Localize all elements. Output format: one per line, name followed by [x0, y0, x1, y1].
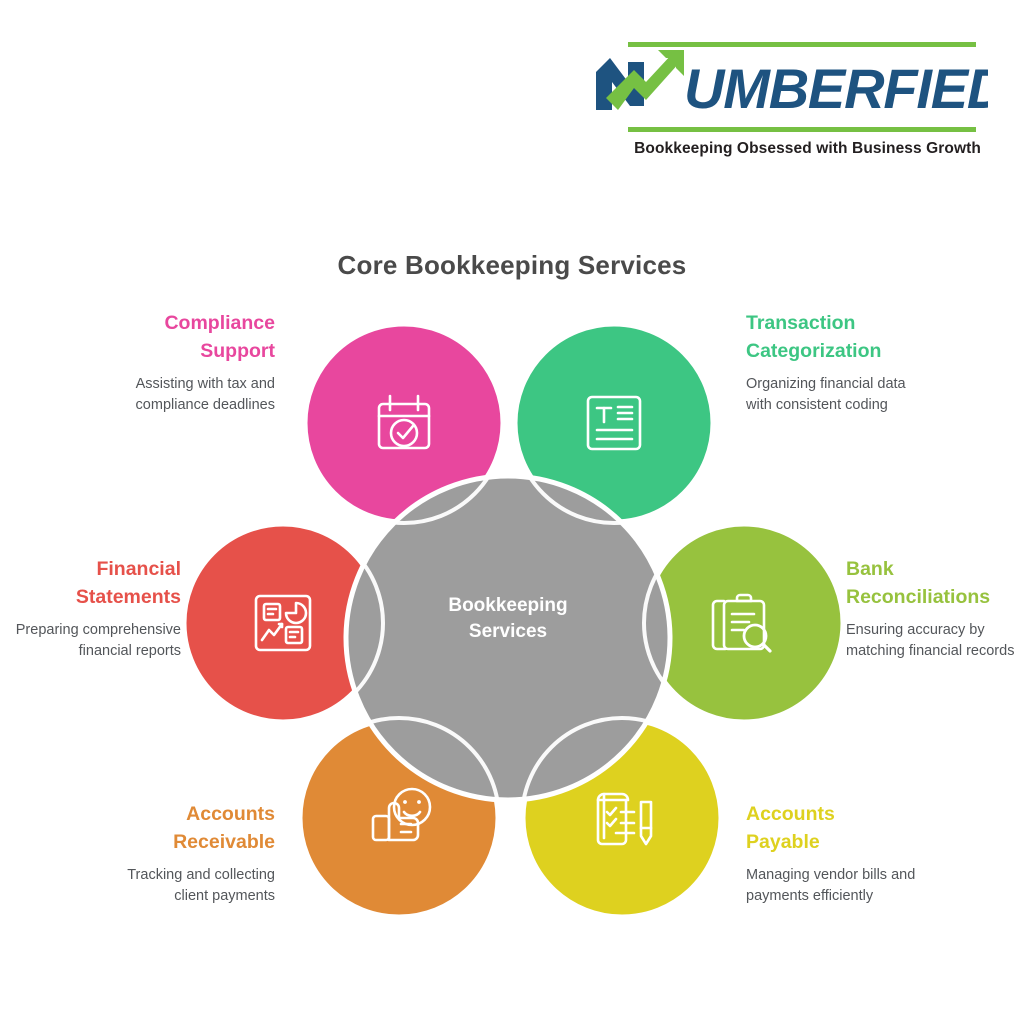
- callout-title: Financial Statements: [1, 556, 181, 611]
- logo-rule-bottom: [628, 127, 976, 132]
- callout-bank-reconciliations[interactable]: Bank Reconciliations Ensuring accuracy b…: [846, 556, 1024, 662]
- callout-description: Managing vendor bills and payments effic…: [746, 865, 932, 907]
- callout-title-line2: Statements: [76, 586, 181, 608]
- logo-rule-top: [628, 42, 976, 47]
- page-title: Core Bookkeeping Services: [0, 250, 1024, 281]
- logo-wordmark: UMBERFIED: [588, 48, 988, 126]
- callout-title-line2: Reconciliations: [846, 586, 990, 608]
- callout-title: Accounts Receivable: [97, 801, 275, 856]
- callout-title-line1: Bank: [846, 558, 894, 580]
- callout-compliance-support[interactable]: Compliance Support Assisting with tax an…: [97, 310, 275, 416]
- callout-title-line1: Accounts: [746, 803, 835, 825]
- callout-description: Assisting with tax and compliance deadli…: [97, 374, 275, 416]
- callout-description: Ensuring accuracy by matching financial …: [846, 620, 1024, 662]
- callout-title-line1: Compliance: [164, 312, 275, 334]
- callout-title-line2: Support: [200, 340, 275, 362]
- callout-title: Bank Reconciliations: [846, 556, 1024, 611]
- callout-transaction-categorization[interactable]: Transaction Categorization Organizing fi…: [746, 310, 932, 416]
- callout-title: Accounts Payable: [746, 801, 932, 856]
- callout-accounts-payable[interactable]: Accounts Payable Managing vendor bills a…: [746, 801, 932, 907]
- callout-description: Organizing financial data with consisten…: [746, 374, 932, 416]
- logo-wordmark-text: UMBERFIED: [684, 57, 988, 120]
- callout-description: Preparing comprehensive financial report…: [1, 620, 181, 662]
- callout-title: Transaction Categorization: [746, 310, 932, 365]
- callout-title-line2: Payable: [746, 831, 820, 853]
- brand-logo: UMBERFIED Bookkeeping Obsessed with Busi…: [588, 36, 988, 166]
- callout-title-line2: Receivable: [173, 831, 275, 853]
- callout-title-line2: Categorization: [746, 340, 881, 362]
- callout-description: Tracking and collecting client payments: [97, 865, 275, 907]
- callout-accounts-receivable[interactable]: Accounts Receivable Tracking and collect…: [97, 801, 275, 907]
- callout-title-line1: Accounts: [186, 803, 275, 825]
- logo-tagline: Bookkeeping Obsessed with Business Growt…: [588, 140, 981, 158]
- callout-financial-statements[interactable]: Financial Statements Preparing comprehen…: [1, 556, 181, 662]
- callout-title-line1: Transaction: [746, 312, 855, 334]
- callout-title-line1: Financial: [96, 558, 181, 580]
- infographic-page: UMBERFIED Bookkeeping Obsessed with Busi…: [0, 0, 1024, 1024]
- callout-title: Compliance Support: [97, 310, 275, 365]
